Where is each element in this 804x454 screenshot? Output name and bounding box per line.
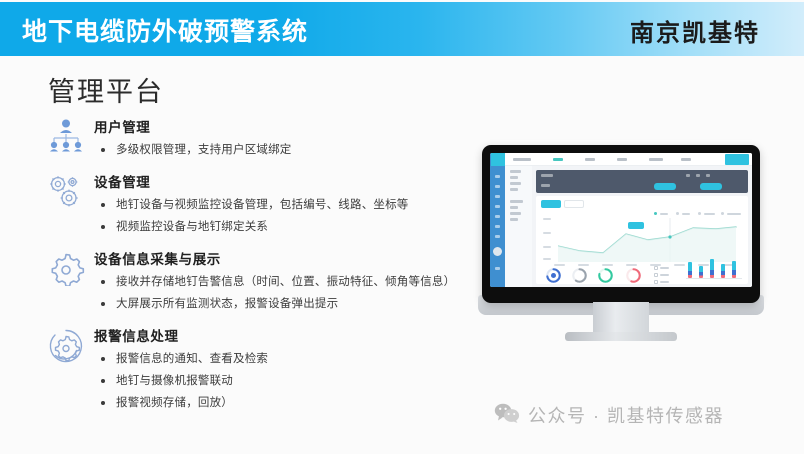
slide-canvas: 地下电缆防外破预警系统 南京凯基特 管理平台: [0, 0, 804, 454]
feature-bullet: 多级权限管理，支持用户区域绑定: [94, 139, 462, 161]
panel-label: [541, 184, 550, 187]
sidebar-nav-dot: [495, 205, 500, 208]
watermark-text: 公众号 · 凯基特传感器: [528, 402, 724, 428]
page-title: 管理平台: [48, 70, 164, 109]
chart-legend-label: [682, 213, 690, 215]
monitor-bezel: [482, 145, 760, 303]
monitor-base: [565, 332, 677, 341]
panel-label: [686, 174, 690, 177]
feature-bullet: 地钉设备与视频监控设备管理，包括编号、线路、坐标等: [94, 194, 462, 216]
feature-heading: 设备信息采集与展示: [94, 248, 462, 268]
feature-bullet: 接收并存储地钉告警信息（时间、位置、振动特征、倾角等信息）: [94, 271, 462, 293]
bar-chart-bar: [732, 261, 736, 278]
chart-legend-marker: [654, 212, 657, 215]
topbar-label: [681, 158, 691, 161]
chart-tab-inactive[interactable]: [564, 200, 584, 208]
nav-item[interactable]: [510, 212, 521, 215]
y-axis-tick: [543, 218, 551, 220]
nav-item[interactable]: [510, 218, 518, 221]
x-axis-tick: [578, 264, 589, 266]
sidebar-nav-dot: [495, 267, 500, 270]
chart-legend-label: [660, 213, 668, 215]
three-gears-icon: [42, 171, 90, 209]
feature-section-device-management: 设备管理 地钉设备与视频监控设备管理，包括编号、线路、坐标等 视频监控设备与地钉…: [42, 171, 462, 238]
nav-item[interactable]: [510, 176, 518, 179]
sidebar-nav-dot: [495, 175, 500, 178]
bar-chart-bar: [699, 266, 703, 278]
feature-heading: 设备管理: [94, 171, 462, 191]
dashboard-filter-panel: [536, 170, 748, 193]
line-chart: [558, 218, 738, 262]
x-axis-tick: [554, 264, 565, 266]
chart-legend-label: [727, 213, 741, 215]
gear-icon: [42, 248, 90, 286]
header-banner: 地下电缆防外破预警系统 南京凯基特: [0, 2, 804, 56]
sidebar-nav-dot: [495, 225, 500, 228]
feature-bullet: 地钉与摄像机报警联动: [94, 370, 462, 392]
feature-section-user-management: 用户管理 多级权限管理，支持用户区域绑定: [42, 116, 462, 161]
company-brand-name: 南京凯基特: [630, 13, 760, 48]
topbar-label: [617, 158, 627, 161]
dashboard-sidebar: [490, 153, 505, 287]
page-header-title: 地下电缆防外破预警系统: [22, 12, 308, 48]
topbar-action-button[interactable]: [725, 154, 749, 165]
legend-checkbox-label: [660, 274, 669, 276]
nav-item[interactable]: [510, 206, 518, 209]
sidebar-nav-dot: [495, 235, 500, 238]
feature-bullet-list: 多级权限管理，支持用户区域绑定: [94, 139, 462, 161]
gear-in-circle-icon: [42, 325, 90, 365]
feature-body: 报警信息处理 报警信息的通知、查看及检索 地钉与摄像机报警联动 报警视频存储，回…: [90, 325, 462, 414]
feature-section-device-info: 设备信息采集与展示 接收并存储地钉告警信息（时间、位置、振动特征、倾角等信息） …: [42, 248, 462, 315]
legend-checkbox-label: [660, 281, 669, 283]
monitor-neck: [593, 302, 649, 334]
panel-label: [696, 174, 700, 177]
watermark: 公众号 · 凯基特传感器: [494, 402, 724, 428]
nav-item[interactable]: [510, 182, 521, 185]
legend-checkbox-label: [660, 267, 669, 269]
feature-section-alarm-handling: 报警信息处理 报警信息的通知、查看及检索 地钉与摄像机报警联动 报警视频存储，回…: [42, 325, 462, 414]
feature-bullet: 大屏展示所有监测状态，报警设备弹出提示: [94, 293, 462, 315]
y-axis-tick: [543, 246, 551, 248]
topbar-label: [649, 158, 663, 161]
feature-heading: 报警信息处理: [94, 325, 462, 345]
chart-tab-active[interactable]: [541, 200, 561, 208]
org-chart-people-icon: [42, 116, 90, 152]
dashboard-chart-card: [536, 196, 748, 284]
x-axis-tick: [602, 264, 613, 266]
donut-chart-3: [598, 268, 613, 283]
bar-chart-axis: [686, 278, 742, 279]
feature-bullet-list: 接收并存储地钉告警信息（时间、位置、振动特征、倾角等信息） 大屏展示所有监测状态…: [94, 271, 462, 315]
legend-checkbox[interactable]: [654, 266, 658, 270]
donut-chart-1: [546, 268, 561, 283]
chart-legend-marker: [721, 212, 724, 215]
desktop-monitor-mockup: [482, 145, 760, 350]
panel-reset-button[interactable]: [700, 183, 722, 190]
legend-checkbox[interactable]: [654, 273, 658, 277]
feature-bullet: 视频监控设备与地钉绑定关系: [94, 216, 462, 238]
chart-legend-marker: [676, 212, 679, 215]
feature-bullet-list: 地钉设备与视频监控设备管理，包括编号、线路、坐标等 视频监控设备与地钉绑定关系: [94, 194, 462, 238]
panel-search-button[interactable]: [654, 183, 676, 190]
panel-label: [706, 174, 710, 177]
feature-list: 用户管理 多级权限管理，支持用户区域绑定: [42, 116, 462, 414]
topbar-label: [513, 158, 531, 161]
wechat-icon: [494, 403, 520, 428]
dashboard-logo: [491, 153, 505, 166]
feature-body: 设备信息采集与展示 接收并存储地钉告警信息（时间、位置、振动特征、倾角等信息） …: [90, 248, 462, 315]
y-axis-tick: [543, 232, 551, 234]
chart-legend-marker: [698, 212, 701, 215]
x-axis-tick: [626, 264, 637, 266]
chart-legend-label: [704, 213, 715, 215]
sidebar-nav-dot: [495, 215, 500, 218]
bar-chart-bar: [688, 262, 692, 278]
dashboard-topbar: [505, 153, 752, 166]
panel-label: [541, 174, 553, 177]
dashboard-left-nav: [505, 166, 532, 287]
legend-checkbox[interactable]: [654, 280, 658, 284]
nav-item[interactable]: [510, 200, 523, 203]
nav-item[interactable]: [510, 170, 521, 173]
sidebar-nav-dot: [495, 195, 500, 198]
feature-bullet: 报警信息的通知、查看及检索: [94, 348, 462, 370]
feature-body: 设备管理 地钉设备与视频监控设备管理，包括编号、线路、坐标等 视频监控设备与地钉…: [90, 171, 462, 238]
bar-chart-bar: [710, 259, 714, 278]
feature-body: 用户管理 多级权限管理，支持用户区域绑定: [90, 116, 462, 161]
x-axis-tick: [674, 264, 685, 266]
nav-item[interactable]: [510, 188, 518, 191]
sidebar-avatar: [493, 247, 502, 256]
y-axis-tick: [543, 258, 551, 260]
bar-chart-bar: [721, 264, 725, 278]
feature-bullet: 报警视频存储，回放）: [94, 392, 462, 414]
feature-bullet-list: 报警信息的通知、查看及检索 地钉与摄像机报警联动 报警视频存储，回放）: [94, 348, 462, 414]
donut-chart-4: [626, 268, 641, 283]
chart-tooltip: [628, 222, 644, 229]
topbar-label-active: [553, 158, 563, 161]
feature-heading: 用户管理: [94, 116, 462, 136]
monitor-screen: [490, 153, 752, 287]
sidebar-nav-dot: [495, 185, 500, 188]
topbar-label: [585, 158, 595, 161]
donut-chart-2: [572, 268, 587, 283]
